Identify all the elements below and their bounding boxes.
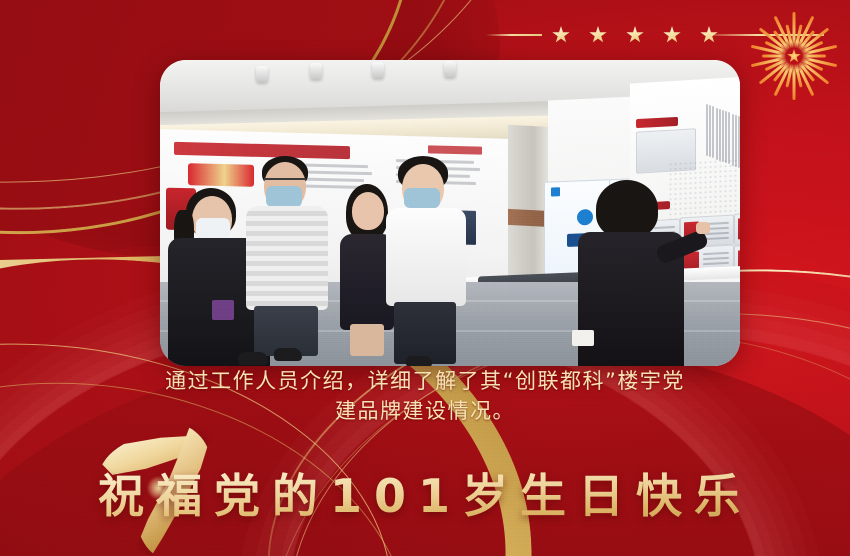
- firework-burst-icon: [744, 8, 844, 104]
- photo-person: [560, 180, 700, 366]
- star-icon: [589, 26, 607, 44]
- photo-person: [246, 156, 332, 352]
- ceiling-spotlight: [372, 62, 384, 78]
- caption-block: 通过工作人员介绍，详细了解了其“创联都科”楼宇党 建品牌建设情况。: [0, 366, 850, 426]
- exhibition-photo: [160, 60, 740, 366]
- page-title: 祝福党的101岁生日快乐: [0, 460, 850, 526]
- person-shoe: [406, 356, 432, 366]
- far-wall-text-column: [722, 110, 724, 162]
- far-wall-text-column: [706, 104, 708, 156]
- person-hand: [696, 222, 710, 234]
- far-wall-card-text-line: [703, 252, 729, 255]
- far-wall-profile-card: [734, 210, 740, 245]
- ceiling-spotlight: [310, 63, 322, 79]
- far-wall-card-text-line: [703, 257, 729, 260]
- far-wall-text-column: [735, 115, 737, 167]
- person-legs: [394, 302, 456, 364]
- person-face-mask: [404, 188, 440, 208]
- far-wall-text-column: [716, 108, 718, 160]
- gold-rule-left: [486, 34, 542, 36]
- photo-person: [386, 156, 470, 362]
- person-shoe: [238, 352, 268, 365]
- screen-chip: [551, 187, 560, 196]
- header-decoration: [0, 24, 850, 46]
- far-wall-text-column: [738, 116, 740, 168]
- person-face-mask: [196, 218, 230, 238]
- person-head: [352, 192, 384, 230]
- caption-line-1: 通过工作人员介绍，详细了解了其“创联都科”楼宇党: [165, 369, 685, 393]
- person-hair: [596, 180, 658, 238]
- photo-frame: [160, 60, 740, 366]
- ceiling-spotlight: [256, 66, 268, 82]
- person-torso: [246, 206, 328, 310]
- far-wall-text-column: [709, 105, 711, 157]
- far-wall-text-column: [719, 109, 721, 161]
- person-shoe: [274, 348, 302, 361]
- person-shirt-graphic: [212, 300, 234, 320]
- person-holding-paper: [572, 330, 594, 346]
- far-wall-card-text-line: [703, 262, 729, 265]
- ceiling-spotlight: [444, 61, 456, 77]
- far-wall-text-column: [732, 114, 734, 166]
- far-wall-portrait: [738, 218, 740, 240]
- photo-wall-emblem: [188, 163, 254, 187]
- person-legs: [350, 324, 384, 356]
- person-torso: [386, 208, 466, 306]
- star-icon: [626, 26, 644, 44]
- poster-canvas: 通过工作人员介绍，详细了解了其“创联都科”楼宇党 建品牌建设情况。 祝福党的10…: [0, 0, 850, 556]
- person-face-mask: [266, 186, 302, 207]
- star-icon: [663, 26, 681, 44]
- photo-wall-subtitle: [428, 145, 482, 154]
- star-icon: [552, 26, 570, 44]
- far-wall-text-column: [725, 111, 727, 163]
